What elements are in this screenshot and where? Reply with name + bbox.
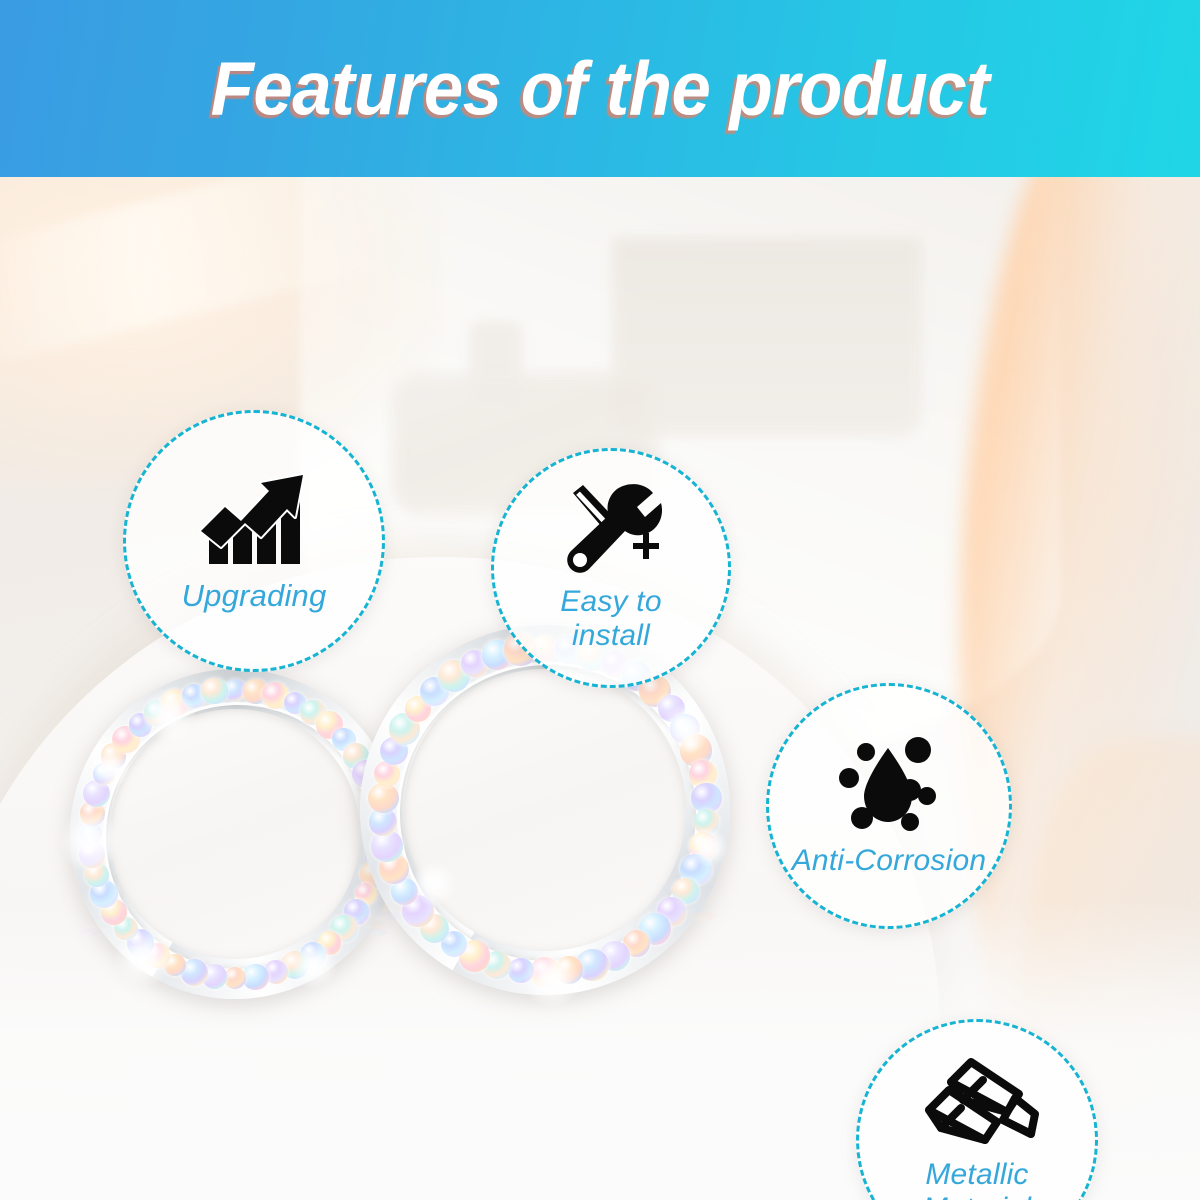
sun-visor-shape [612,237,922,437]
ring-reflection-gem [579,871,607,880]
metal-ingot-bars-icon [915,1054,1039,1152]
ring-reflection-gem [80,928,104,936]
product-ring-left-reflection [70,883,400,995]
ring-crystal-gem [79,841,105,867]
product-ring-right-reflection [360,865,730,991]
content-stage: Upgrading [0,177,1200,1200]
ring-crystal-gem [201,678,227,704]
ring-reflection-gem [373,911,401,920]
ring-reflection-gem [223,886,247,894]
ring-crystal-gem [80,823,102,845]
ring-reflection-gem [555,869,583,878]
water-droplet-dots-icon [834,734,944,838]
ring-reflection-gem [507,869,535,878]
ring-crystal-gem [368,783,399,814]
ring-reflection-gem [203,886,227,894]
product-feature-infographic: Features of the product [0,0,1200,1200]
ring-crystal-gem [374,761,400,787]
feature-badge-upgrading[interactable]: Upgrading [123,410,385,672]
ring-reflection-gem [264,888,288,896]
ring-crystal-gem [694,809,720,835]
feature-label-metallic-material: Metallic Material [923,1158,1031,1200]
wrench-screwdriver-plus-icon [559,483,663,579]
feature-label-anti-corrosion: Anti-Corrosion [792,844,987,878]
feature-badge-easy-to-install[interactable]: Easy to install [491,448,731,688]
product-image-crystal-rings [60,597,780,1117]
page-title: Features of the product [42,45,1158,132]
feature-label-upgrading: Upgrading [182,579,327,614]
bar-chart-rising-arrow-icon [195,469,313,569]
feature-badge-anti-corrosion[interactable]: Anti-Corrosion [766,683,1012,929]
ring-reflection-gem [531,868,559,877]
header-banner: Features of the product [0,0,1200,177]
feature-label-easy-to-install: Easy to install [560,585,661,652]
